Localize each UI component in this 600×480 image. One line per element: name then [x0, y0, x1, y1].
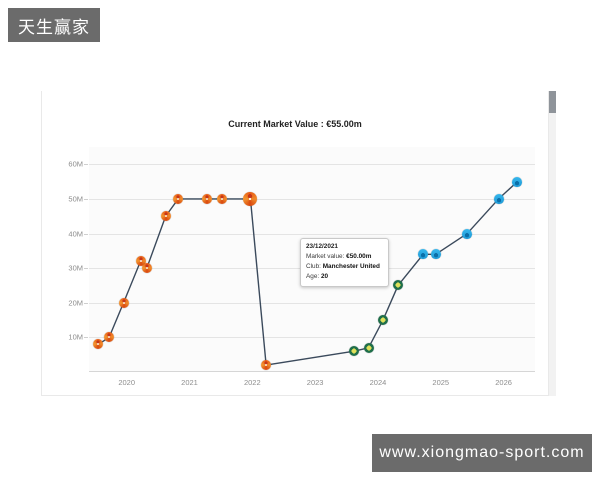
x-axis-tick-label: 2023 — [307, 378, 324, 387]
market-value-card: Current Market Value : €55.00m 10M20M30M… — [41, 91, 549, 396]
data-point[interactable] — [378, 315, 388, 325]
data-point[interactable] — [119, 298, 129, 308]
scrollbar-thumb[interactable] — [549, 91, 556, 113]
data-point[interactable] — [364, 343, 374, 353]
y-axis-tick-label: 30M — [68, 264, 83, 273]
data-point[interactable] — [349, 346, 359, 356]
y-axis-tick — [84, 164, 88, 165]
blue-crest-icon — [462, 229, 472, 239]
data-point[interactable] — [161, 211, 171, 221]
mu-crest-icon — [161, 211, 171, 221]
data-point[interactable] — [104, 332, 114, 342]
y-axis-tick — [84, 337, 88, 338]
data-point[interactable] — [494, 194, 504, 204]
watermark-top-left: 天生赢家 — [8, 8, 100, 42]
green-crest-icon — [378, 315, 388, 325]
x-axis-tick-label: 2020 — [118, 378, 135, 387]
data-point[interactable] — [142, 263, 152, 273]
watermark-bottom-right: www.xiongmao-sport.com — [372, 434, 592, 472]
tooltip-age: 20 — [321, 273, 328, 280]
blue-crest-icon — [418, 249, 428, 259]
y-axis-tick — [84, 199, 88, 200]
tooltip-club-row: Club: Manchester United — [306, 262, 383, 272]
data-point[interactable] — [217, 194, 227, 204]
green-crest-icon — [364, 343, 374, 353]
mu-crest-icon — [119, 298, 129, 308]
mu-crest-icon — [104, 332, 114, 342]
y-axis-tick-label: 20M — [68, 298, 83, 307]
data-point[interactable] — [261, 360, 271, 370]
data-point[interactable] — [462, 229, 472, 239]
x-axis-tick-label: 2026 — [495, 378, 512, 387]
green-crest-icon — [349, 346, 359, 356]
tooltip-market-value-row: Market value: €50.00m — [306, 252, 383, 262]
data-point[interactable] — [173, 194, 183, 204]
x-axis-tick-label: 2024 — [370, 378, 387, 387]
mu-crest-icon — [217, 194, 227, 204]
y-axis-tick-label: 60M — [68, 160, 83, 169]
y-axis-tick — [84, 303, 88, 304]
tooltip-club-label: Club: — [306, 263, 321, 270]
x-axis-tick-label: 2022 — [244, 378, 261, 387]
tooltip-club: Manchester United — [323, 263, 380, 270]
mu-crest-icon — [142, 263, 152, 273]
blue-crest-icon — [431, 249, 441, 259]
chart-title: Current Market Value : €55.00m — [42, 119, 548, 129]
data-point[interactable] — [93, 339, 103, 349]
y-axis-tick-label: 50M — [68, 194, 83, 203]
y-axis-tick-label: 10M — [68, 333, 83, 342]
x-axis-tick-label: 2025 — [432, 378, 449, 387]
data-point-tooltip: 23/12/2021 Market value: €50.00m Club: M… — [300, 238, 389, 287]
tooltip-age-row: Age: 20 — [306, 272, 383, 282]
scrollbar-track[interactable] — [549, 91, 556, 396]
mu-crest-icon — [93, 339, 103, 349]
screenshot-root: 天生赢家 MARKET VALUE OVER TIME Current Mark… — [0, 0, 600, 480]
y-axis-tick — [84, 234, 88, 235]
data-point[interactable] — [202, 194, 212, 204]
y-axis-tick-label: 40M — [68, 229, 83, 238]
data-point[interactable] — [393, 280, 403, 290]
mu-crest-icon — [243, 192, 257, 206]
tooltip-date: 23/12/2021 — [306, 242, 383, 252]
mu-crest-icon — [173, 194, 183, 204]
blue-crest-icon — [512, 177, 522, 187]
data-point[interactable] — [243, 192, 257, 206]
data-point[interactable] — [431, 249, 441, 259]
tooltip-age-label: Age: — [306, 273, 319, 280]
tooltip-market-value: €50.00m — [346, 253, 371, 260]
mu-crest-icon — [261, 360, 271, 370]
data-point[interactable] — [512, 177, 522, 187]
blue-crest-icon — [494, 194, 504, 204]
x-axis-tick-label: 2021 — [181, 378, 198, 387]
green-crest-icon — [393, 280, 403, 290]
data-point[interactable] — [418, 249, 428, 259]
mu-crest-icon — [202, 194, 212, 204]
tooltip-market-value-label: Market value: — [306, 253, 344, 260]
y-axis-tick — [84, 268, 88, 269]
